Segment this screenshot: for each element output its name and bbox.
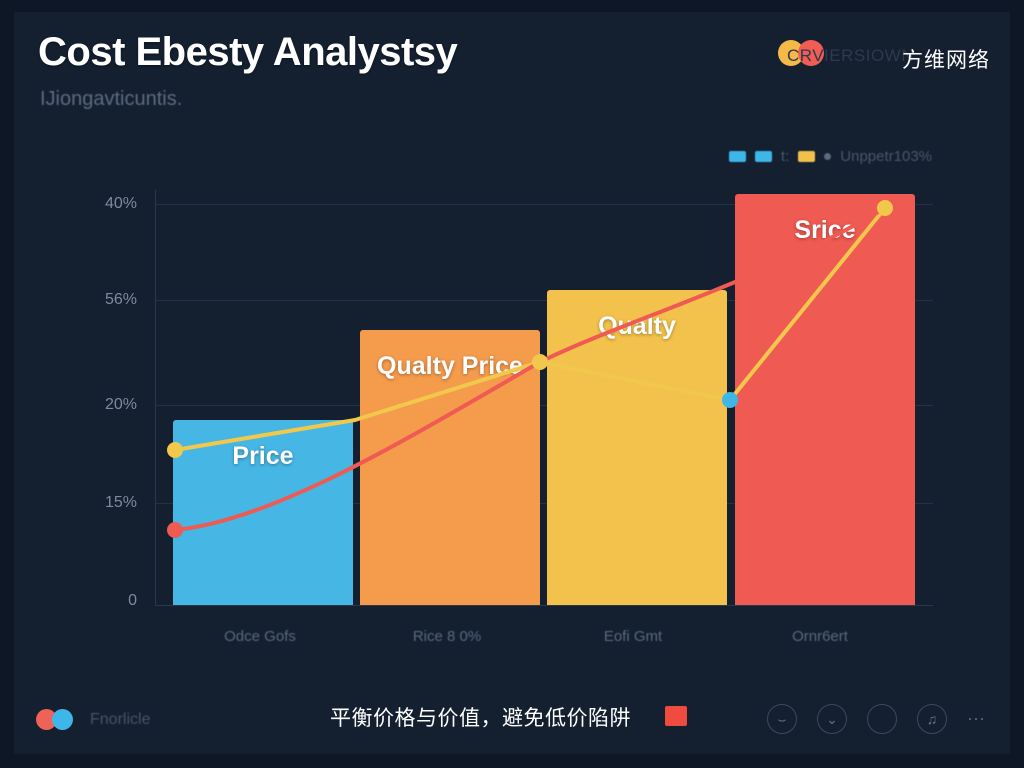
red-line-series xyxy=(175,208,885,530)
y-tick-label-1: 56% xyxy=(105,291,137,309)
yellow-line-series xyxy=(175,208,885,450)
plot-area: 40% 56% 20% 15% 0 Price Qualty Price Qua… xyxy=(155,190,933,605)
frame-edge-top xyxy=(0,0,1024,12)
footer-icon-bar[interactable]: ⌣ ⌄ ♫ ⋯ xyxy=(767,704,988,734)
legend-swatch-yellow xyxy=(798,151,815,162)
chart-canvas: Cost Ebesty Analystsy IJiongavticuntis. … xyxy=(0,0,1024,768)
ellipsis-icon[interactable]: ⋯ xyxy=(967,709,988,730)
page-subtitle: IJiongavticuntis. xyxy=(40,88,182,111)
frame-edge-bottom xyxy=(0,754,1024,768)
legend-swatch-blue-2 xyxy=(755,151,772,162)
x-axis-line xyxy=(155,605,933,606)
y-tick-label-0: 40% xyxy=(105,195,137,213)
y-tick-label-4: 0 xyxy=(128,592,137,610)
y-tick-label-3: 15% xyxy=(105,494,137,512)
frame-edge-left xyxy=(0,0,14,768)
marker-yellow-0 xyxy=(167,442,183,458)
page-title: Cost Ebesty Analystsy xyxy=(38,30,457,75)
footer-left-label: Fnorlicle xyxy=(90,711,150,729)
volume-icon[interactable]: ♫ xyxy=(917,704,947,734)
x-tick-label-1: Rice 8 0% xyxy=(362,628,532,645)
x-tick-label-3: Ornr6ert xyxy=(735,628,905,645)
footer-dots-icon xyxy=(36,709,80,730)
footer-caption-badge xyxy=(665,706,687,726)
circle-icon[interactable] xyxy=(867,704,897,734)
line-series-overlay xyxy=(155,190,933,605)
marker-red-0 xyxy=(167,522,183,538)
footer-caption: 平衡价格与价值，避免低价陷阱 xyxy=(330,702,631,732)
x-tick-label-0: Odce Gofs xyxy=(175,628,345,645)
footer-left-group: Fnorlicle xyxy=(36,709,150,730)
footer-dot-blue-icon xyxy=(52,709,73,730)
marker-yellow-2 xyxy=(532,354,548,370)
marker-blue-3 xyxy=(722,392,738,408)
smiley-icon[interactable]: ⌣ xyxy=(767,704,797,734)
x-tick-label-2: Eofi Gmt xyxy=(548,628,718,645)
y-tick-label-2: 20% xyxy=(105,396,137,414)
chevron-down-icon[interactable]: ⌄ xyxy=(817,704,847,734)
legend-dot-icon xyxy=(824,153,831,160)
brand-watermark: 方维网络 xyxy=(902,44,990,74)
marker-yellow-4 xyxy=(877,200,893,216)
chart-legend: t: Unppetr103% xyxy=(729,148,932,165)
legend-swatch-blue xyxy=(729,151,746,162)
legend-label-1: t: xyxy=(781,148,789,165)
legend-label-3: Unppetr103% xyxy=(840,148,932,165)
frame-edge-right xyxy=(1010,0,1024,768)
header-ghost-label: CRVIERSIOWN xyxy=(787,46,914,66)
